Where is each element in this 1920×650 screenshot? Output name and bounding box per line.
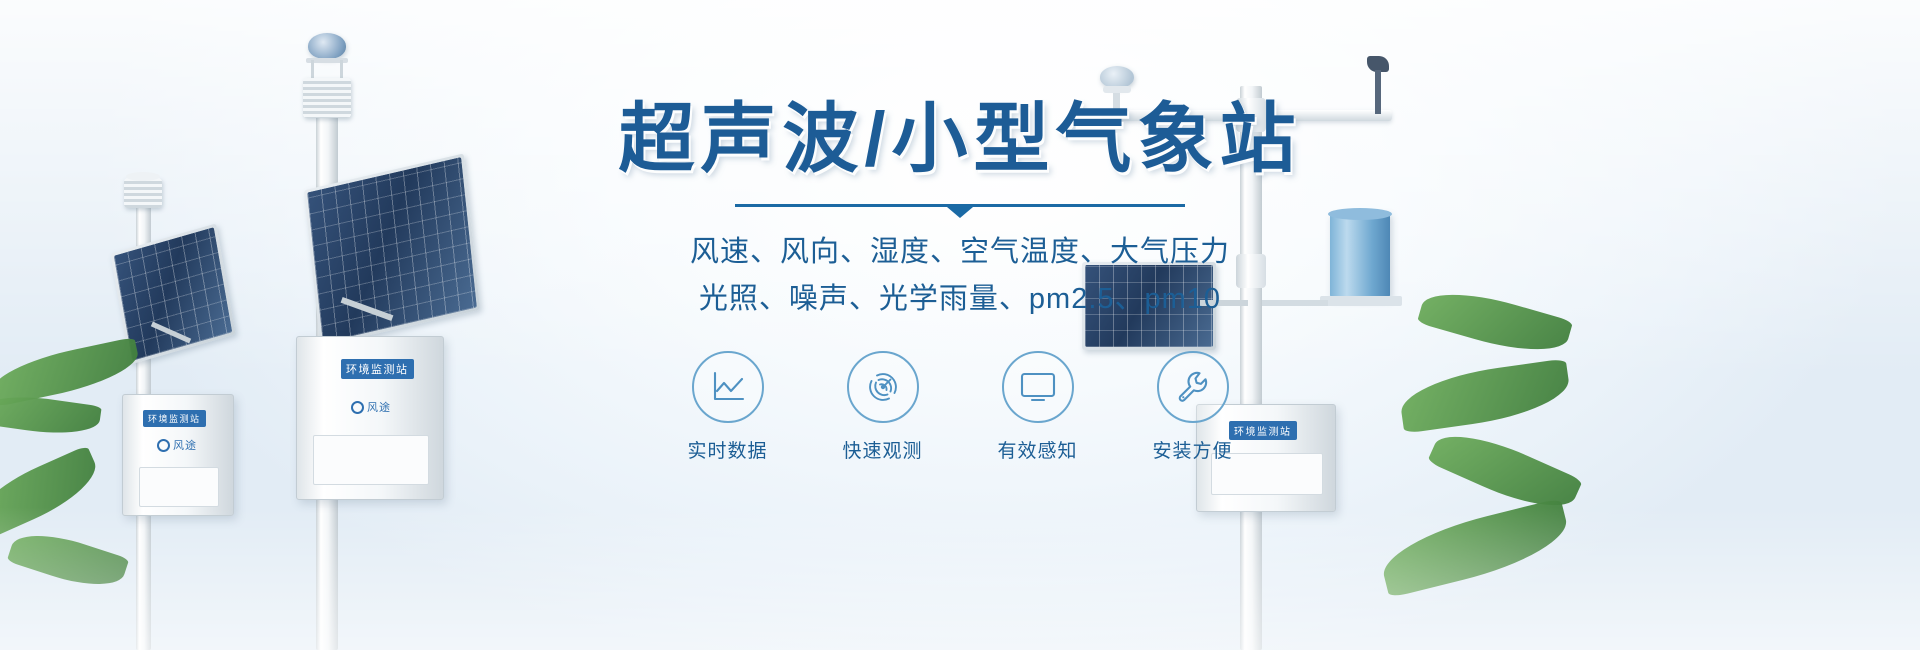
radiation-shield-left (124, 178, 162, 208)
ultrasonic-anemometer-center (308, 33, 346, 59)
brand-mark-center: 风途 (351, 399, 391, 415)
brand-text-center: 风途 (367, 399, 391, 415)
feature-label-4: 安装方便 (1140, 436, 1245, 463)
brand-logo-icon-left (157, 439, 170, 452)
feature-label-2: 快速观测 (830, 436, 935, 463)
banner-text-block: 超声波/小型气象站 风速、风向、湿度、空气温度、大气压力 光照、噪声、光学雨量、… (600, 100, 1320, 463)
radiation-shield-center (303, 78, 351, 118)
brand-mark-left: 风途 (157, 437, 197, 453)
ground-haze-overlay (0, 507, 1920, 650)
feature-list: 实时数据 快 (600, 351, 1320, 463)
rain-gauge-rim-right (1328, 208, 1392, 220)
subtitle-line-2: 光照、噪声、光学雨量、pm2.5、pm10 (600, 276, 1320, 323)
line-chart-icon (710, 370, 746, 404)
cabinet-door-panel-left (139, 467, 219, 507)
foliage-right-2 (1397, 358, 1573, 433)
feature-item-realtime-data[interactable]: 实时数据 (675, 351, 780, 463)
shield-cap-left (126, 172, 160, 181)
ultrasonic-anemometer-right (1100, 66, 1134, 88)
feature-item-easy-installation[interactable]: 安装方便 (1140, 351, 1245, 463)
feature-item-fast-observation[interactable]: 快速观测 (830, 351, 935, 463)
control-cabinet-center: 环境监测站 风途 (296, 336, 444, 500)
monitor-screen-icon (1019, 371, 1057, 403)
cabinet-door-panel-center (313, 435, 429, 485)
cabinet-tag-center: 环境监测站 (341, 359, 414, 379)
feature-label-3: 有效感知 (985, 436, 1090, 463)
sensor-strut-left-center (311, 60, 314, 78)
foliage-right-1 (1417, 280, 1573, 364)
feature-label-1: 实时数据 (675, 436, 780, 463)
brand-logo-icon-center (351, 401, 364, 414)
anemometer-base-right (1103, 86, 1131, 93)
feature-circle-4 (1157, 351, 1229, 423)
cabinet-tag-left: 环境监测站 (143, 410, 206, 427)
foliage-left-2 (0, 390, 102, 440)
foliage-right-4 (1376, 498, 1574, 598)
wrench-icon (1175, 369, 1211, 405)
rain-gauge-shelf-right (1320, 296, 1402, 306)
product-banner: 环境监测站 风途 环境监测站 风途 (0, 0, 1920, 650)
optical-rain-gauge-right (1330, 212, 1390, 298)
subtitle-line-1: 风速、风向、湿度、空气温度、大气压力 (600, 229, 1320, 276)
foliage-left-4 (7, 523, 130, 597)
page-title: 超声波/小型气象站 (600, 100, 1320, 180)
feature-item-effective-sensing[interactable]: 有效感知 (985, 351, 1090, 463)
brand-text-left: 风途 (173, 437, 197, 453)
feature-circle-3 (1002, 351, 1074, 423)
wind-vane-post-right (1375, 70, 1381, 114)
radar-signal-icon (865, 369, 901, 405)
foliage-left-3 (0, 445, 106, 541)
feature-circle-2 (847, 351, 919, 423)
feature-circle-1 (692, 351, 764, 423)
control-cabinet-left: 环境监测站 风途 (122, 394, 234, 516)
sensor-strut-right-center (340, 60, 343, 78)
subtitle-group: 风速、风向、湿度、空气温度、大气压力 光照、噪声、光学雨量、pm2.5、pm10 (600, 229, 1320, 323)
title-divider (735, 204, 1185, 207)
